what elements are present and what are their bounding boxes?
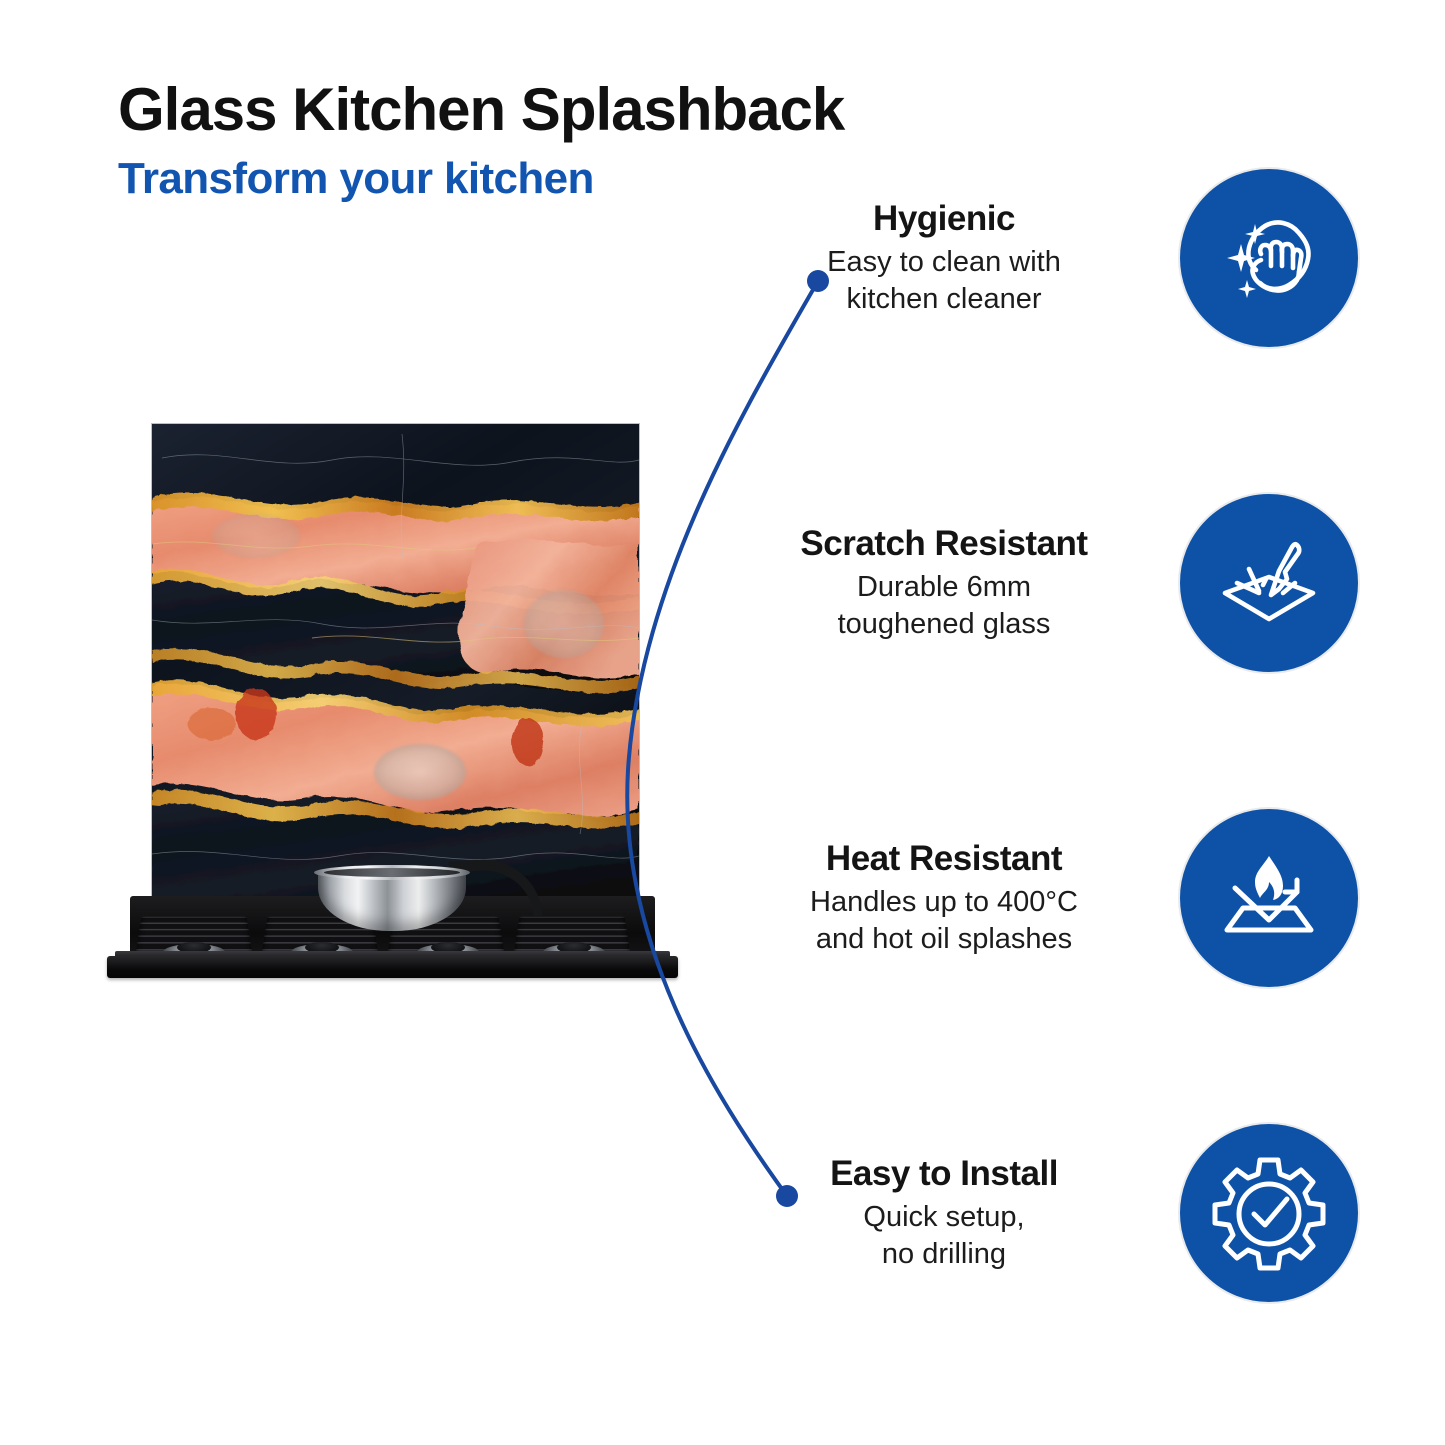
- infographic-canvas: Glass Kitchen Splashback Transform your …: [0, 0, 1445, 1445]
- feature-desc-scratch-resistant: Durable 6mm toughened glass: [740, 569, 1148, 642]
- feature-item-easy-to-install[interactable]: Easy to Install Quick setup, no drilling: [740, 1118, 1360, 1308]
- feature-desc-line1: Durable 6mm: [857, 571, 1031, 603]
- feature-desc-hygienic: Easy to clean with kitchen cleaner: [740, 244, 1148, 317]
- pan-interior: [324, 868, 460, 877]
- feature-icon-circle-hygienic[interactable]: [1178, 167, 1360, 349]
- marble-agate-pattern: [152, 424, 639, 907]
- frying-pan: [300, 859, 530, 941]
- splashback-glass-panel: [152, 424, 639, 907]
- feature-title-easy-to-install: Easy to Install: [740, 1154, 1148, 1193]
- feature-desc-line2: no drilling: [882, 1238, 1006, 1270]
- feature-title-scratch-resistant: Scratch Resistant: [740, 524, 1148, 563]
- flame-deflecting-surface-icon: [1213, 842, 1325, 954]
- feature-desc-easy-to-install: Quick setup, no drilling: [740, 1199, 1148, 1272]
- feature-text-scratch-resistant: Scratch Resistant Durable 6mm toughened …: [740, 524, 1152, 642]
- product-photo: [105, 424, 680, 989]
- feature-desc-line2: toughened glass: [838, 608, 1051, 640]
- flame-shape: [1255, 856, 1283, 900]
- feature-icon-circle-heat-resistant[interactable]: [1178, 807, 1360, 989]
- sparkle-cleaning-hand-icon: [1213, 202, 1325, 314]
- feature-item-hygienic[interactable]: Hygienic Easy to clean with kitchen clea…: [740, 163, 1360, 353]
- feature-text-easy-to-install: Easy to Install Quick setup, no drilling: [740, 1154, 1152, 1272]
- feature-title-heat-resistant: Heat Resistant: [740, 839, 1148, 878]
- feature-item-heat-resistant[interactable]: Heat Resistant Handles up to 400°C and h…: [740, 803, 1360, 993]
- sparkle-small: [1238, 280, 1256, 298]
- hob-base-frame: [107, 956, 678, 978]
- feature-desc-line1: Quick setup,: [863, 1201, 1024, 1233]
- feature-title-hygienic: Hygienic: [740, 199, 1148, 238]
- feature-text-heat-resistant: Heat Resistant Handles up to 400°C and h…: [740, 839, 1152, 957]
- knife-impact-surface-icon: [1213, 527, 1325, 639]
- feature-desc-heat-resistant: Handles up to 400°C and hot oil splashes: [740, 884, 1148, 957]
- feature-icon-circle-easy-to-install[interactable]: [1178, 1122, 1360, 1304]
- feature-text-hygienic: Hygienic Easy to clean with kitchen clea…: [740, 199, 1152, 317]
- feature-desc-line1: Easy to clean with: [827, 246, 1061, 278]
- feature-desc-line1: Handles up to 400°C: [810, 886, 1078, 918]
- gear-check-icon: [1210, 1154, 1328, 1272]
- feature-desc-line2: and hot oil splashes: [816, 923, 1072, 955]
- feature-icon-circle-scratch-resistant[interactable]: [1178, 492, 1360, 674]
- feature-desc-line2: kitchen cleaner: [846, 283, 1041, 315]
- feature-item-scratch-resistant[interactable]: Scratch Resistant Durable 6mm toughened …: [740, 488, 1360, 678]
- page-title: Glass Kitchen Splashback: [118, 78, 1018, 142]
